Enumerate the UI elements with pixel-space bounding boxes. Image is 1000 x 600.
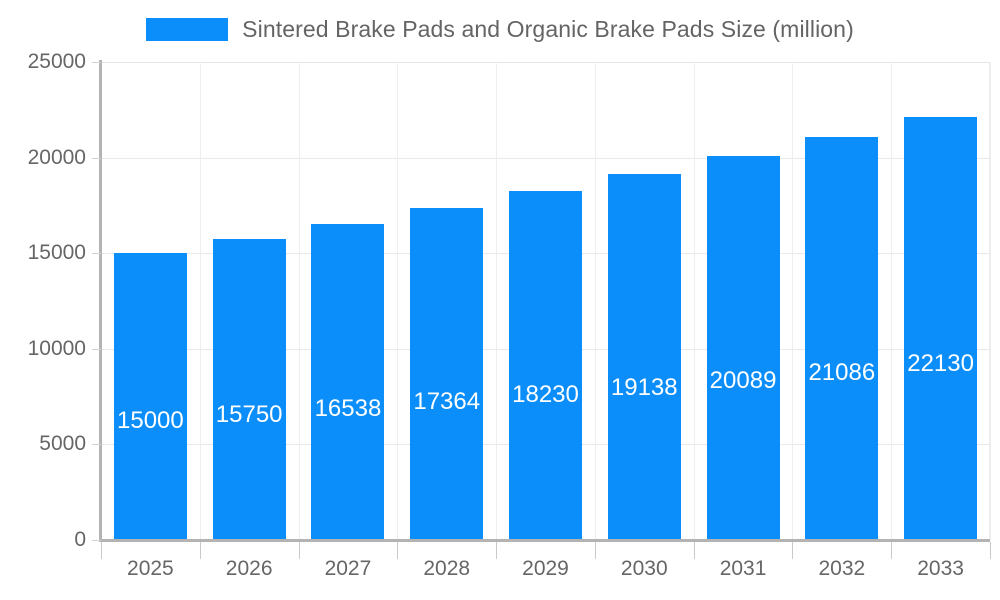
gridline-x-8 (891, 62, 892, 540)
x-axis-line (99, 539, 990, 542)
gridline-y-25000 (101, 62, 990, 63)
y-tick-mark-5000 (92, 444, 101, 445)
x-tick-mark-0 (101, 542, 102, 559)
bar-2027[interactable] (311, 224, 384, 540)
plot-right-border (989, 62, 990, 540)
x-tick-label-2032: 2032 (818, 557, 865, 581)
bar-2026[interactable] (213, 239, 286, 540)
gridline-x-7 (792, 62, 793, 540)
y-tick-mark-20000 (92, 158, 101, 159)
x-tick-label-2025: 2025 (127, 557, 174, 581)
x-tick-label-2026: 2026 (226, 557, 273, 581)
y-tick-mark-25000 (92, 62, 101, 63)
x-tick-label-2033: 2033 (917, 557, 964, 581)
y-tick-label-10000: 10000 (0, 337, 86, 361)
legend-label: Sintered Brake Pads and Organic Brake Pa… (242, 16, 854, 43)
bar-2030[interactable] (608, 174, 681, 540)
x-tick-label-2027: 2027 (325, 557, 372, 581)
bar-2029[interactable] (509, 191, 582, 540)
bar-2031[interactable] (707, 156, 780, 540)
bar-2032[interactable] (805, 137, 878, 540)
x-tick-label-2031: 2031 (720, 557, 767, 581)
bar-2025[interactable] (114, 253, 187, 540)
x-tick-mark-5 (595, 542, 596, 559)
gridline-x-2 (299, 62, 300, 540)
y-tick-mark-15000 (92, 253, 101, 254)
bar-2028[interactable] (410, 208, 483, 540)
legend-item-series-1[interactable]: Sintered Brake Pads and Organic Brake Pa… (146, 16, 854, 43)
bar-2033[interactable] (904, 117, 977, 540)
x-tick-label-2030: 2030 (621, 557, 668, 581)
y-tick-mark-10000 (92, 349, 101, 350)
gridline-x-1 (200, 62, 201, 540)
x-tick-mark-3 (397, 542, 398, 559)
x-tick-mark-4 (496, 542, 497, 559)
x-tick-mark-9 (990, 542, 991, 559)
gridline-x-3 (397, 62, 398, 540)
chart-legend: Sintered Brake Pads and Organic Brake Pa… (0, 12, 1000, 46)
plot-area: 1500015750165381736418230191382008921086… (101, 62, 990, 540)
y-tick-mark-0 (92, 540, 101, 541)
x-tick-mark-6 (694, 542, 695, 559)
x-tick-mark-2 (299, 542, 300, 559)
gridline-x-6 (694, 62, 695, 540)
x-tick-mark-7 (792, 542, 793, 559)
y-tick-label-25000: 25000 (0, 50, 86, 74)
y-axis-line (99, 60, 102, 542)
x-tick-mark-8 (891, 542, 892, 559)
legend-color-swatch-icon (146, 18, 228, 41)
gridline-x-5 (595, 62, 596, 540)
gridline-x-4 (496, 62, 497, 540)
x-tick-mark-1 (200, 542, 201, 559)
y-tick-label-15000: 15000 (0, 241, 86, 265)
y-tick-label-0: 0 (0, 528, 86, 552)
x-tick-label-2028: 2028 (423, 557, 470, 581)
x-tick-label-2029: 2029 (522, 557, 569, 581)
bar-chart: Sintered Brake Pads and Organic Brake Pa… (0, 0, 1000, 600)
y-tick-label-5000: 5000 (0, 432, 86, 456)
gridline-x-9 (990, 62, 991, 540)
y-tick-label-20000: 20000 (0, 146, 86, 170)
